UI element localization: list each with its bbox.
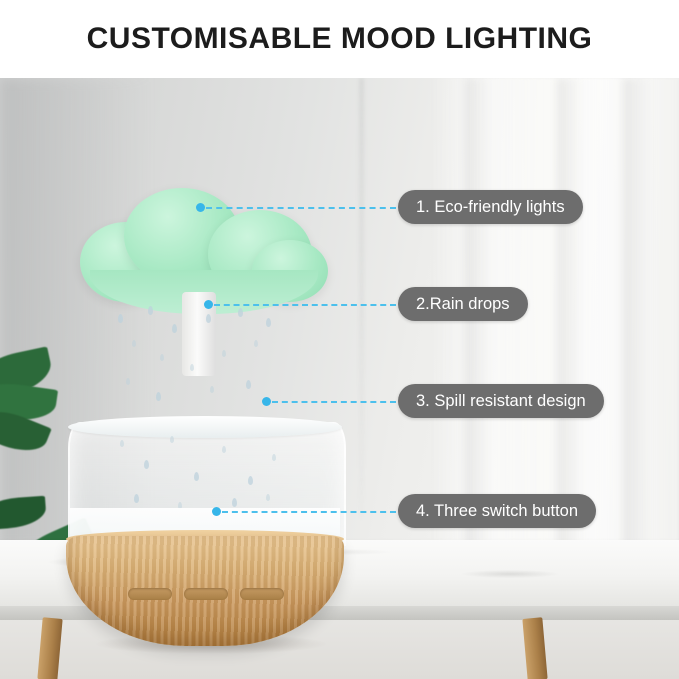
rain-drop-icon <box>194 472 199 481</box>
rain-drop-icon <box>232 498 237 507</box>
marker-lights-dot <box>196 203 205 212</box>
callout-rain-drops[interactable]: 2.Rain drops <box>398 287 528 321</box>
rain-drop-icon <box>148 306 153 315</box>
rain-drop-icon <box>118 314 123 323</box>
floor <box>0 616 679 679</box>
marker-spill-dot <box>262 397 271 406</box>
rain-drop-icon <box>126 378 130 385</box>
tank-rim <box>68 416 342 438</box>
rain-drop-icon <box>134 494 139 503</box>
rain-drop-icon <box>172 324 177 333</box>
humidifier-device <box>60 164 350 564</box>
rain-drop-icon <box>222 446 226 453</box>
rain-drop-icon <box>248 476 253 485</box>
rain-drop-icon <box>206 314 211 323</box>
callout-line <box>272 401 396 403</box>
product-infographic: CUSTOMISABLE MOOD LIGHTING <box>0 0 679 679</box>
callout-label: 4. Three switch button <box>416 502 578 521</box>
callout-spill-resistant-design[interactable]: 3. Spill resistant design <box>398 384 604 418</box>
rain-drop-icon <box>254 340 258 347</box>
rain-drop-icon <box>120 440 124 447</box>
rain-drop-icon <box>144 460 149 469</box>
rain-drop-icon <box>132 340 136 347</box>
rain-drop-icon <box>170 436 174 443</box>
curtain-fold-icon <box>623 78 649 598</box>
rain-drop-icon <box>210 386 214 393</box>
callout-label: 2.Rain drops <box>416 295 510 314</box>
rain-drop-icon <box>272 454 276 461</box>
switch-button[interactable] <box>184 588 228 600</box>
light-up-cloud <box>80 184 330 304</box>
callout-line <box>222 511 396 513</box>
switch-button[interactable] <box>240 588 284 600</box>
callout-three-switch-button[interactable]: 4. Three switch button <box>398 494 596 528</box>
rain-drop-icon <box>222 350 226 357</box>
callout-line <box>206 207 396 209</box>
switch-button[interactable] <box>128 588 172 600</box>
rain-drop-icon <box>160 354 164 361</box>
rain-drop-icon <box>156 392 161 401</box>
product-photo: 1. Eco-friendly lights 2.Rain drops 3. S… <box>0 78 679 679</box>
rain-drop-icon <box>266 494 270 501</box>
marker-rain-dot <box>204 300 213 309</box>
rain-drop-icon <box>266 318 271 327</box>
rain-drop-icon <box>190 364 194 371</box>
callout-label: 1. Eco-friendly lights <box>416 198 565 217</box>
callout-label: 3. Spill resistant design <box>416 392 586 411</box>
page-title: CUSTOMISABLE MOOD LIGHTING <box>0 22 679 56</box>
rain-drop-icon <box>246 380 251 389</box>
marker-switch-dot <box>212 507 221 516</box>
rain-drop-icon <box>238 308 243 317</box>
wall-edge <box>360 78 363 518</box>
callout-eco-friendly-lights[interactable]: 1. Eco-friendly lights <box>398 190 583 224</box>
callout-line <box>214 304 396 306</box>
